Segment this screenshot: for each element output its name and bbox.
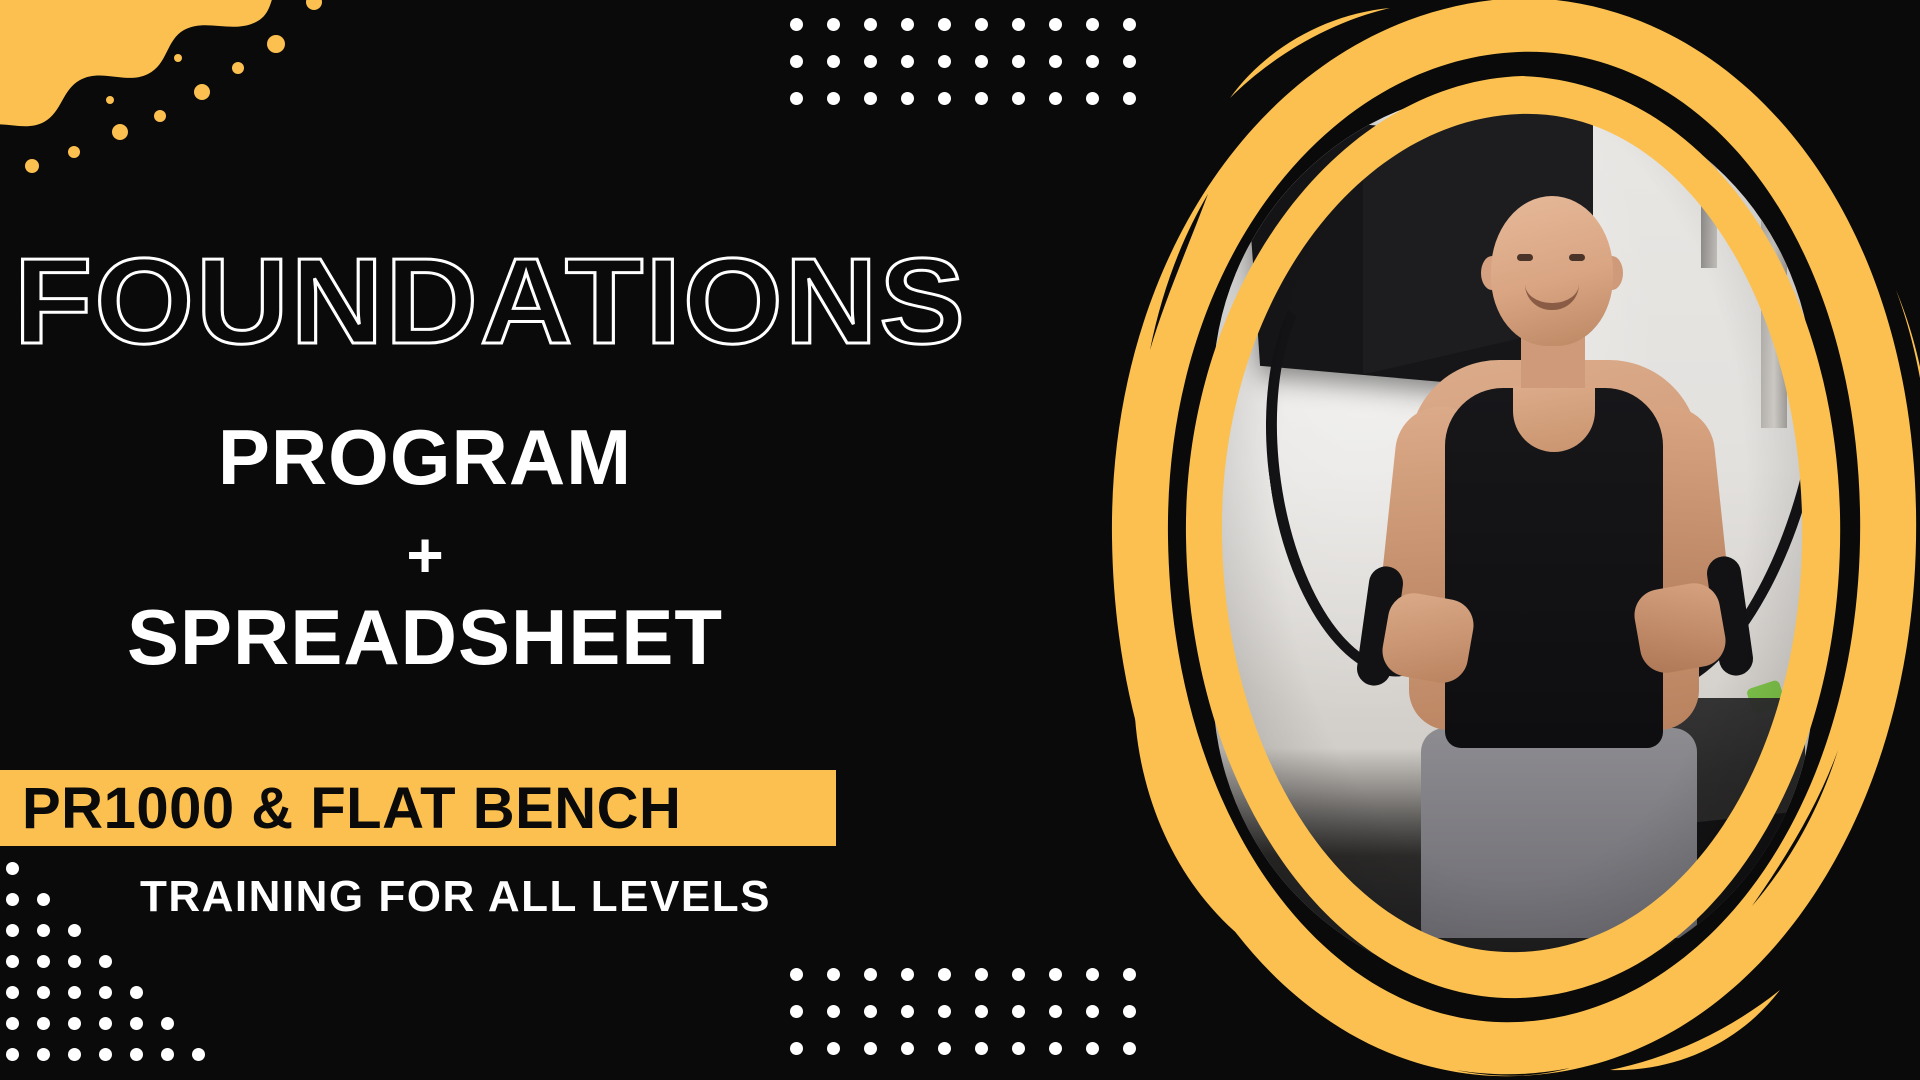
headline-block: FOUNDATIONS PROGRAM + SPREADSHEET PR1000… <box>0 0 1140 1080</box>
tagline: TRAINING FOR ALL LEVELS <box>140 872 771 922</box>
subtitle-program: PROGRAM <box>0 412 850 503</box>
photo-vignette <box>1213 88 1813 988</box>
highlight-band: PR1000 & FLAT BENCH <box>0 770 836 846</box>
photo-frame <box>1090 0 1920 1080</box>
poster-canvas: FOUNDATIONS PROGRAM + SPREADSHEET PR1000… <box>0 0 1920 1080</box>
plus-separator: + <box>0 518 850 592</box>
gym-photo <box>1213 88 1813 988</box>
subtitle-spreadsheet: SPREADSHEET <box>0 592 850 683</box>
page-title: FOUNDATIONS <box>14 240 1138 362</box>
highlight-band-label: PR1000 & FLAT BENCH <box>0 775 681 842</box>
